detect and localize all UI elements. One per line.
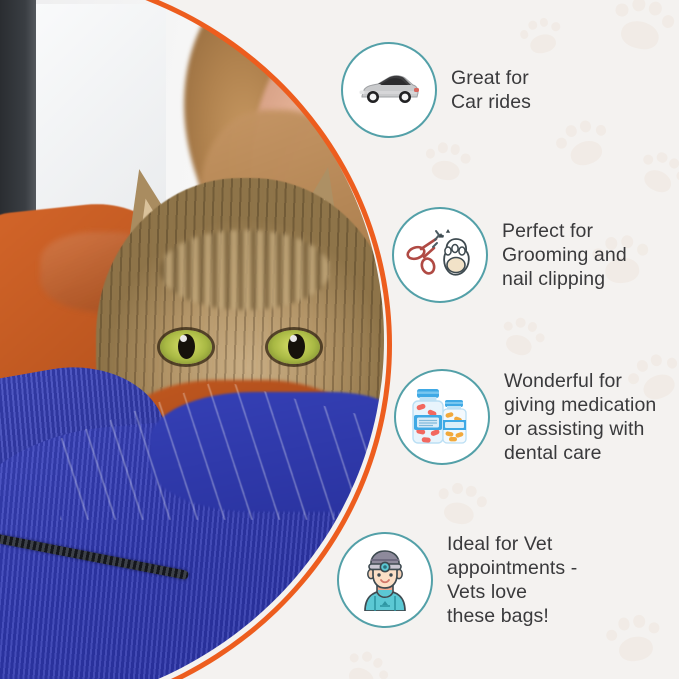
feature-label: Great for Car rides <box>451 66 531 114</box>
feature-label: Wonderful for giving medication or assis… <box>504 369 656 465</box>
feature-list: Great for Car rides <box>0 0 679 679</box>
veterinarian-icon <box>337 532 433 628</box>
nail-clipper-paw-icon <box>392 207 488 303</box>
feature-item-medication: Wonderful for giving medication or assis… <box>394 369 656 465</box>
product-infographic: Great for Car rides <box>0 0 679 679</box>
medicine-bottles-icon <box>394 369 490 465</box>
car-icon <box>341 42 437 138</box>
feature-item-car-rides: Great for Car rides <box>341 42 531 138</box>
feature-item-grooming: Perfect for Grooming and nail clipping <box>392 207 627 303</box>
feature-label: Ideal for Vet appointments - Vets love t… <box>447 532 577 628</box>
feature-label: Perfect for Grooming and nail clipping <box>502 219 627 291</box>
feature-item-vet: Ideal for Vet appointments - Vets love t… <box>337 532 577 628</box>
